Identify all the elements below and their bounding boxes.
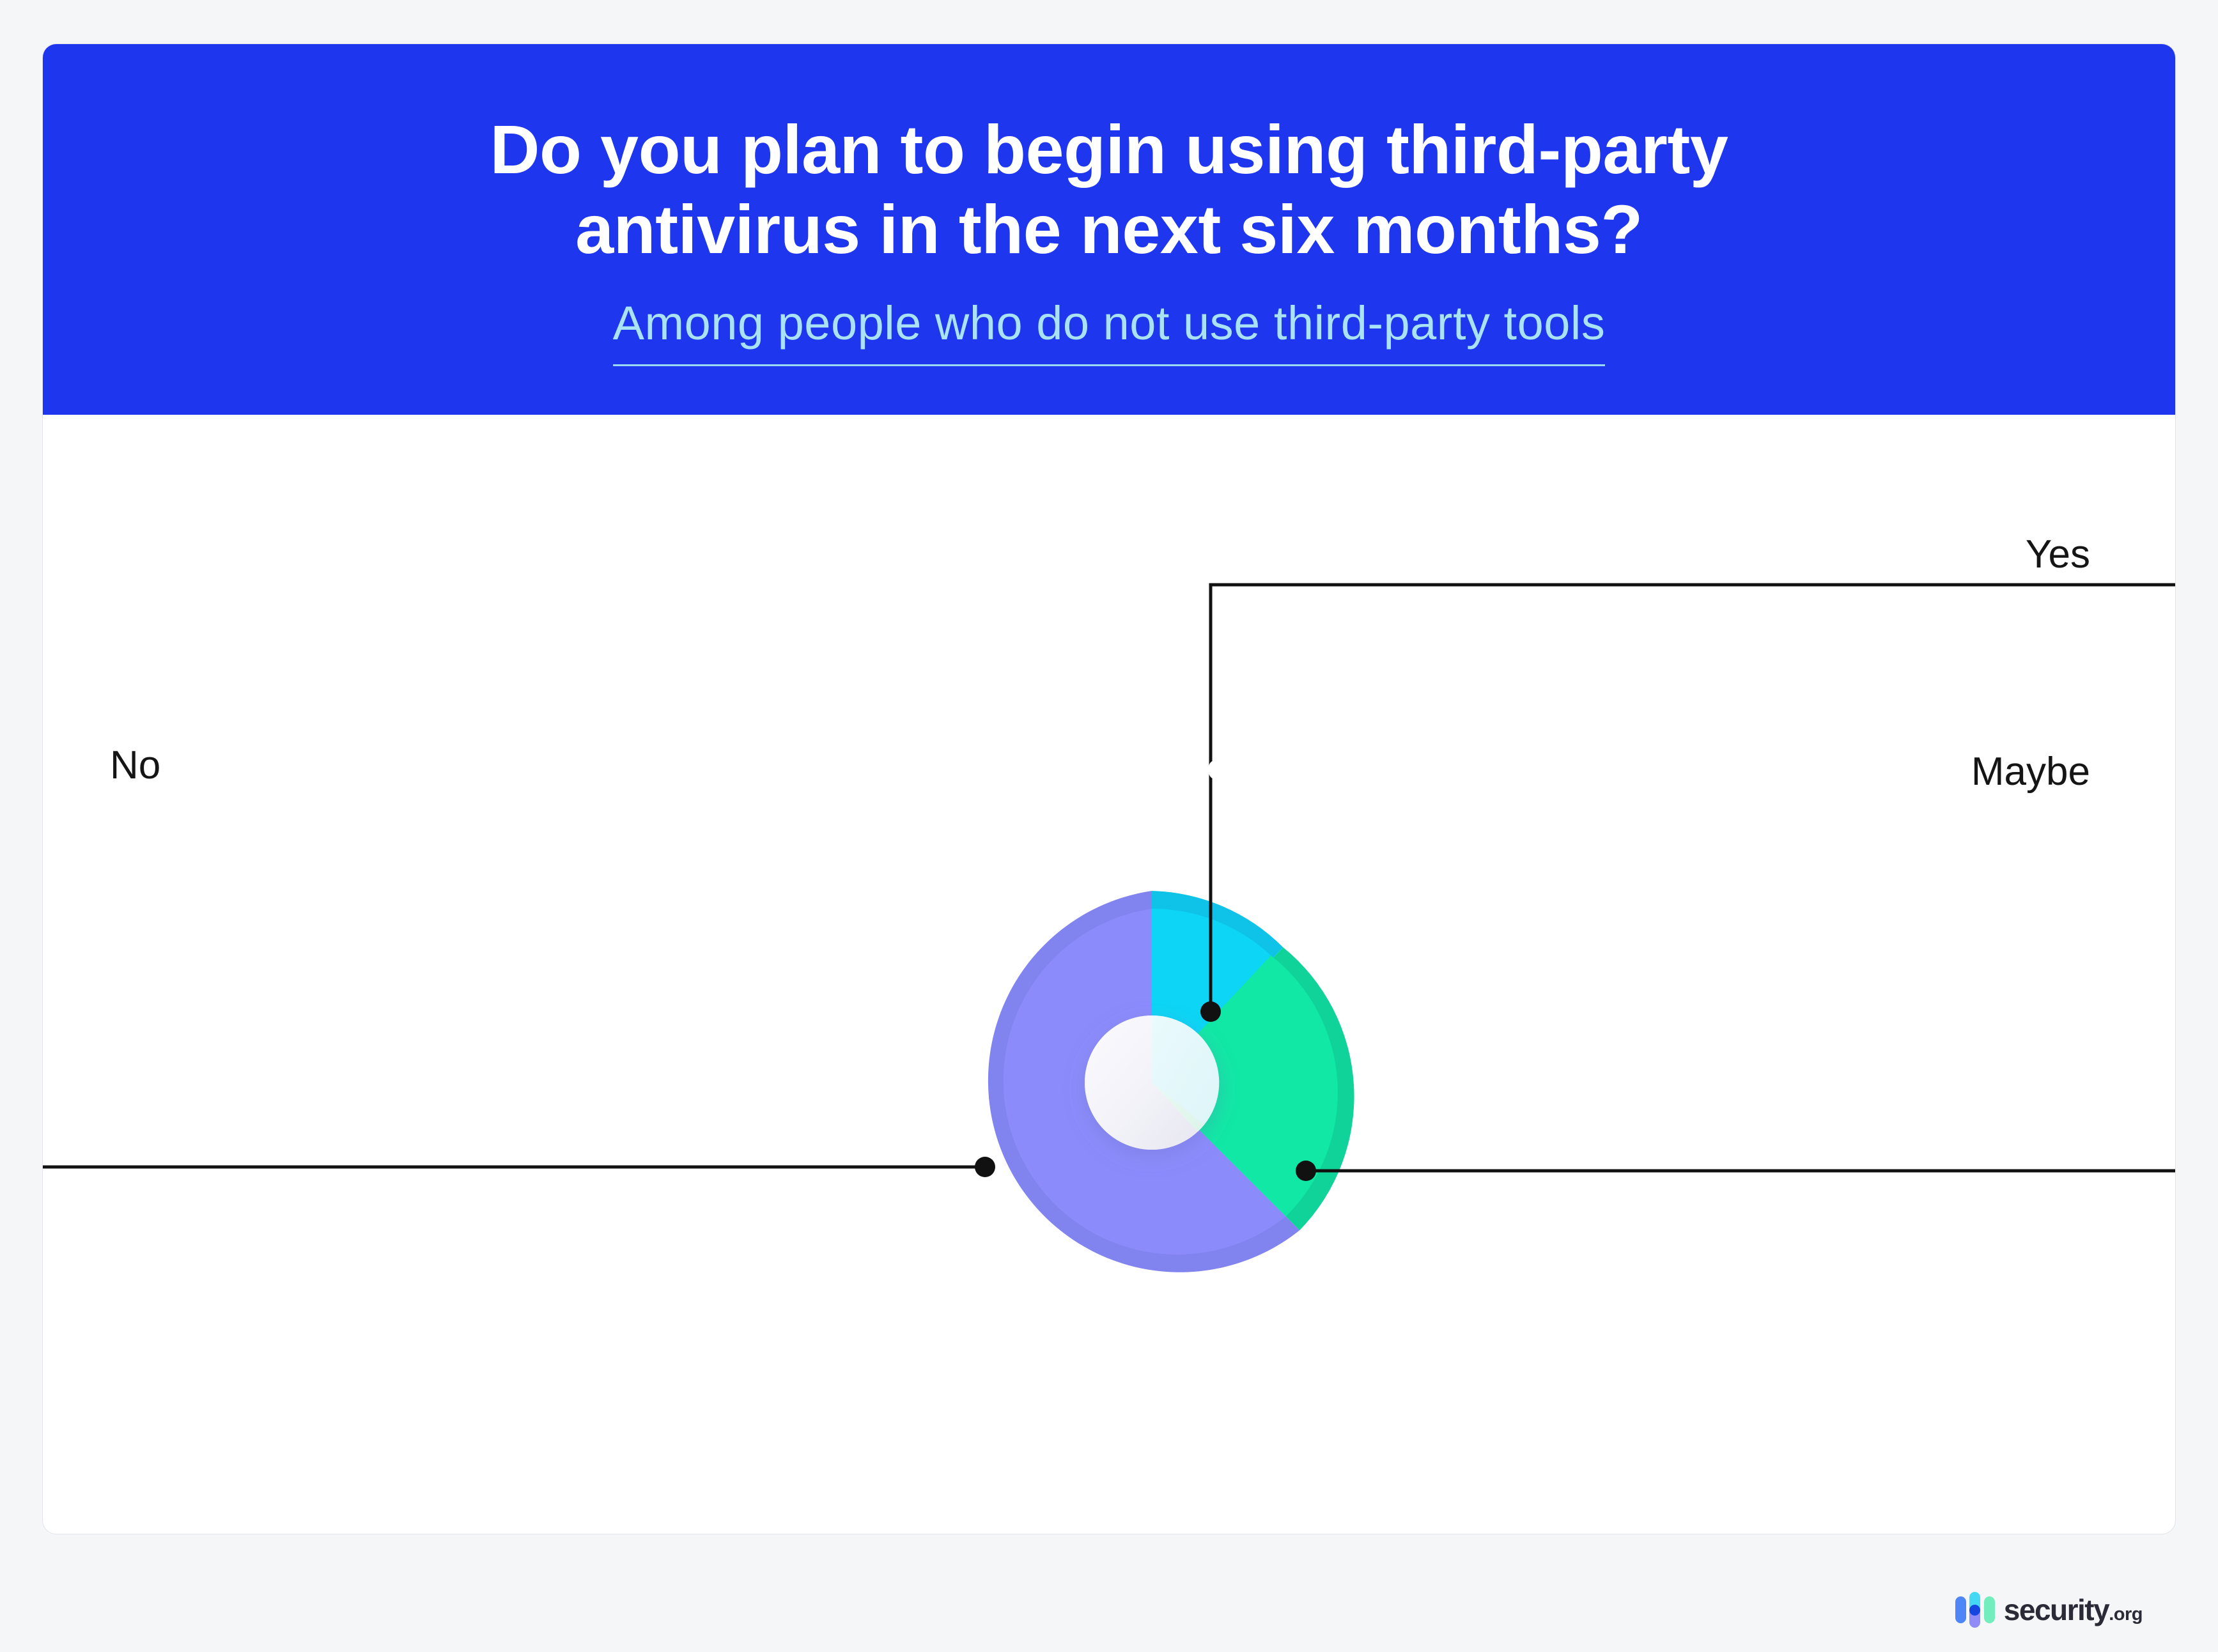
- brand-footer: security.org: [1955, 1592, 2143, 1628]
- brand-name-tld: .org: [2109, 1604, 2143, 1625]
- leader-dot-no: [975, 1157, 995, 1177]
- leader-dot-yes: [1200, 1001, 1221, 1022]
- chart-card: Do you plan to begin using third-party a…: [42, 43, 2176, 1534]
- logo-bar-middle: [1969, 1592, 1980, 1628]
- donut-center-hub: [1085, 1015, 1219, 1150]
- brand-name-main: security: [2004, 1593, 2109, 1626]
- category-label-yes: Yes: [2026, 535, 2090, 575]
- leader-dot-maybe: [1296, 1161, 1316, 1181]
- logo-dot-icon: [1969, 1605, 1980, 1616]
- category-label-maybe: Maybe: [1971, 752, 2090, 792]
- subtitle-underline: Among people who do not use third-party …: [613, 296, 1606, 366]
- chart-subtitle: Among people who do not use third-party …: [613, 296, 1606, 350]
- chart-plot-area: 12% 24% 64% Yes Maybe No: [43, 415, 2175, 1534]
- page-title: Do you plan to begin using third-party a…: [390, 109, 1828, 270]
- leader-line-yes: [1211, 585, 2176, 1012]
- donut-chart: [43, 415, 2176, 1534]
- chart-header: Do you plan to begin using third-party a…: [43, 44, 2175, 415]
- logo-bar-left: [1955, 1596, 1966, 1623]
- security-org-logo-icon: [1955, 1592, 1995, 1628]
- brand-name: security.org: [2004, 1595, 2143, 1625]
- logo-bar-right: [1984, 1596, 1995, 1623]
- category-label-no: No: [110, 746, 160, 785]
